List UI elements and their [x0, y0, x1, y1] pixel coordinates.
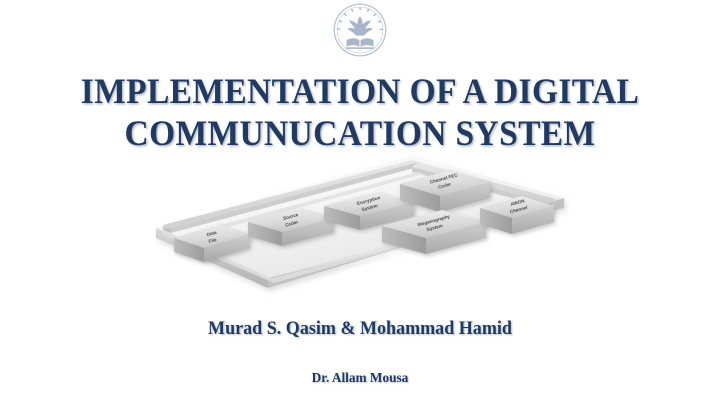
supervisor-line: Dr. Allam Mousa [18, 371, 702, 387]
title-line-2: COMMUNUCATION SYSTEM [25, 112, 695, 154]
title-slide: IMPLEMENTATION OF A DIGITAL COMMUNUCATIO… [0, 0, 720, 405]
block-diagram-svg: Data File Source Coder Encryption System [150, 150, 570, 315]
slide-title: IMPLEMENTATION OF A DIGITAL COMMUNUCATIO… [0, 70, 720, 154]
authors-line: Murad S. Qasim & Mohammad Hamid [18, 318, 702, 340]
university-seal-icon [332, 2, 388, 58]
block-diagram: Data File Source Coder Encryption System [150, 150, 570, 315]
title-line-1: IMPLEMENTATION OF A DIGITAL [25, 70, 695, 112]
university-seal-container [0, 2, 720, 58]
